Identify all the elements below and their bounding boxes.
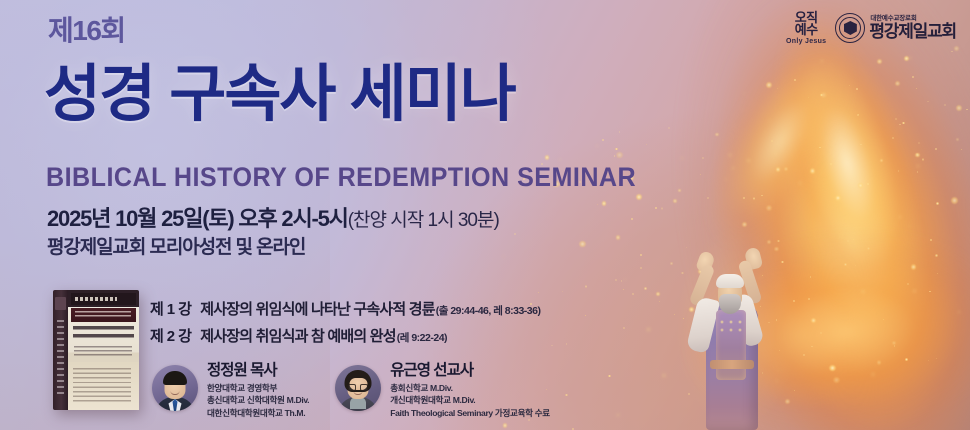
book-spine bbox=[53, 290, 68, 410]
avatar bbox=[152, 365, 198, 411]
speaker-credential: Faith Theological Seminary 가정교육학 수료 bbox=[390, 407, 550, 419]
speaker-credential: 대한신학대학원대학교 Th.M. bbox=[207, 407, 309, 419]
speaker-credential: 총신대학교 신학대학원 M.Div. bbox=[207, 394, 309, 406]
lecture-title: 제사장의 취임식과 참 예배의 완성 bbox=[200, 325, 395, 346]
list-item: 제 2 강 제사장의 취임식과 참 예배의 완성 (레 9:22-24) bbox=[150, 325, 540, 346]
only-jesus-kr-line2: 예수 bbox=[795, 23, 818, 36]
church-emblem-shield-icon bbox=[844, 21, 857, 35]
book-spine-band bbox=[55, 297, 66, 310]
book-cover-title-text bbox=[73, 326, 134, 342]
book-cover-subtitle-text bbox=[74, 346, 132, 358]
edition-number: 제16회 bbox=[48, 17, 125, 45]
page-title: 성경 구속사 세미나 bbox=[44, 64, 515, 126]
speaker-credential: 한양대학교 경영학부 bbox=[207, 382, 309, 394]
event-datetime-main: 2025년 10월 25일(토) 오후 2시-5시 bbox=[47, 206, 348, 231]
lecture-number: 제 1 강 bbox=[150, 298, 191, 319]
priest-sash bbox=[710, 360, 754, 369]
speaker-credential: 총회신학교 M.Div. bbox=[390, 382, 550, 394]
speaker-list: 정정원 목사 한양대학교 경영학부 총신대학교 신학대학원 M.Div. 대한신… bbox=[152, 363, 550, 419]
page-subtitle-english: BIBLICAL HISTORY OF REDEMPTION SEMINAR bbox=[46, 164, 636, 191]
lecture-list: 제 1 강 제사장의 위임식에 나타난 구속사적 경륜 (출 29:44-46,… bbox=[150, 298, 540, 352]
logo-group: 오직 예수 Only Jesus 대한예수교장로회 평강제일교회 bbox=[786, 6, 956, 50]
list-item: 정정원 목사 한양대학교 경영학부 총신대학교 신학대학원 M.Div. 대한신… bbox=[152, 363, 309, 419]
speaker-info: 유근영 선교사 총회신학교 M.Div. 개신대학원대학교 M.Div. Fai… bbox=[390, 363, 550, 419]
speaker-info: 정정원 목사 한양대학교 경영학부 총신대학교 신학대학원 M.Div. 대한신… bbox=[207, 363, 309, 419]
speaker-credential: 개신대학원대학교 M.Div. bbox=[390, 394, 550, 406]
list-item: 제 1 강 제사장의 위임식에 나타난 구속사적 경륜 (출 29:44-46,… bbox=[150, 298, 540, 319]
church-emblem-icon bbox=[835, 13, 865, 43]
glasses-icon bbox=[348, 384, 368, 391]
event-datetime-note: (찬양 시작 1시 30분) bbox=[348, 210, 499, 231]
church-name-block: 대한예수교장로회 평강제일교회 bbox=[869, 16, 956, 41]
high-priest-figure bbox=[686, 228, 778, 430]
only-jesus-logo: 오직 예수 Only Jesus bbox=[786, 11, 826, 45]
church-name: 평강제일교회 bbox=[869, 23, 956, 40]
event-venue: 평강제일교회 모리아성전 및 온라인 bbox=[47, 238, 305, 257]
book-cover-topbar bbox=[71, 293, 136, 305]
speaker-name: 유근영 선교사 bbox=[390, 363, 550, 379]
only-jesus-english: Only Jesus bbox=[786, 38, 826, 45]
book-front-cover bbox=[68, 290, 139, 410]
avatar-hair bbox=[163, 371, 187, 385]
church-logo: 대한예수교장로회 평강제일교회 bbox=[835, 13, 956, 43]
lecture-scripture-reference: (출 29:44-46, 레 8:33-36) bbox=[436, 303, 541, 318]
priest-turban bbox=[716, 274, 744, 288]
avatar bbox=[335, 365, 381, 411]
lecture-scripture-reference: (레 9:22-24) bbox=[397, 330, 447, 345]
lecture-number: 제 2 강 bbox=[150, 325, 191, 346]
list-item: 유근영 선교사 총회신학교 M.Div. 개신대학원대학교 M.Div. Fai… bbox=[335, 363, 550, 419]
book-cover-band bbox=[71, 308, 136, 322]
book-spine-text bbox=[57, 320, 64, 396]
speaker-name: 정정원 목사 bbox=[207, 363, 309, 379]
book-cover-image bbox=[53, 290, 139, 410]
book-cover-lower-panel bbox=[68, 362, 139, 410]
only-jesus-korean: 오직 예수 bbox=[795, 11, 818, 36]
priest-breastplate-gems bbox=[718, 318, 744, 340]
seminar-banner: 오직 예수 Only Jesus 대한예수교장로회 평강제일교회 제16회 성경… bbox=[0, 0, 970, 430]
event-datetime: 2025년 10월 25일(토) 오후 2시-5시(찬양 시작 1시 30분) bbox=[47, 208, 499, 230]
lecture-title: 제사장의 위임식에 나타난 구속사적 경륜 bbox=[200, 298, 434, 319]
